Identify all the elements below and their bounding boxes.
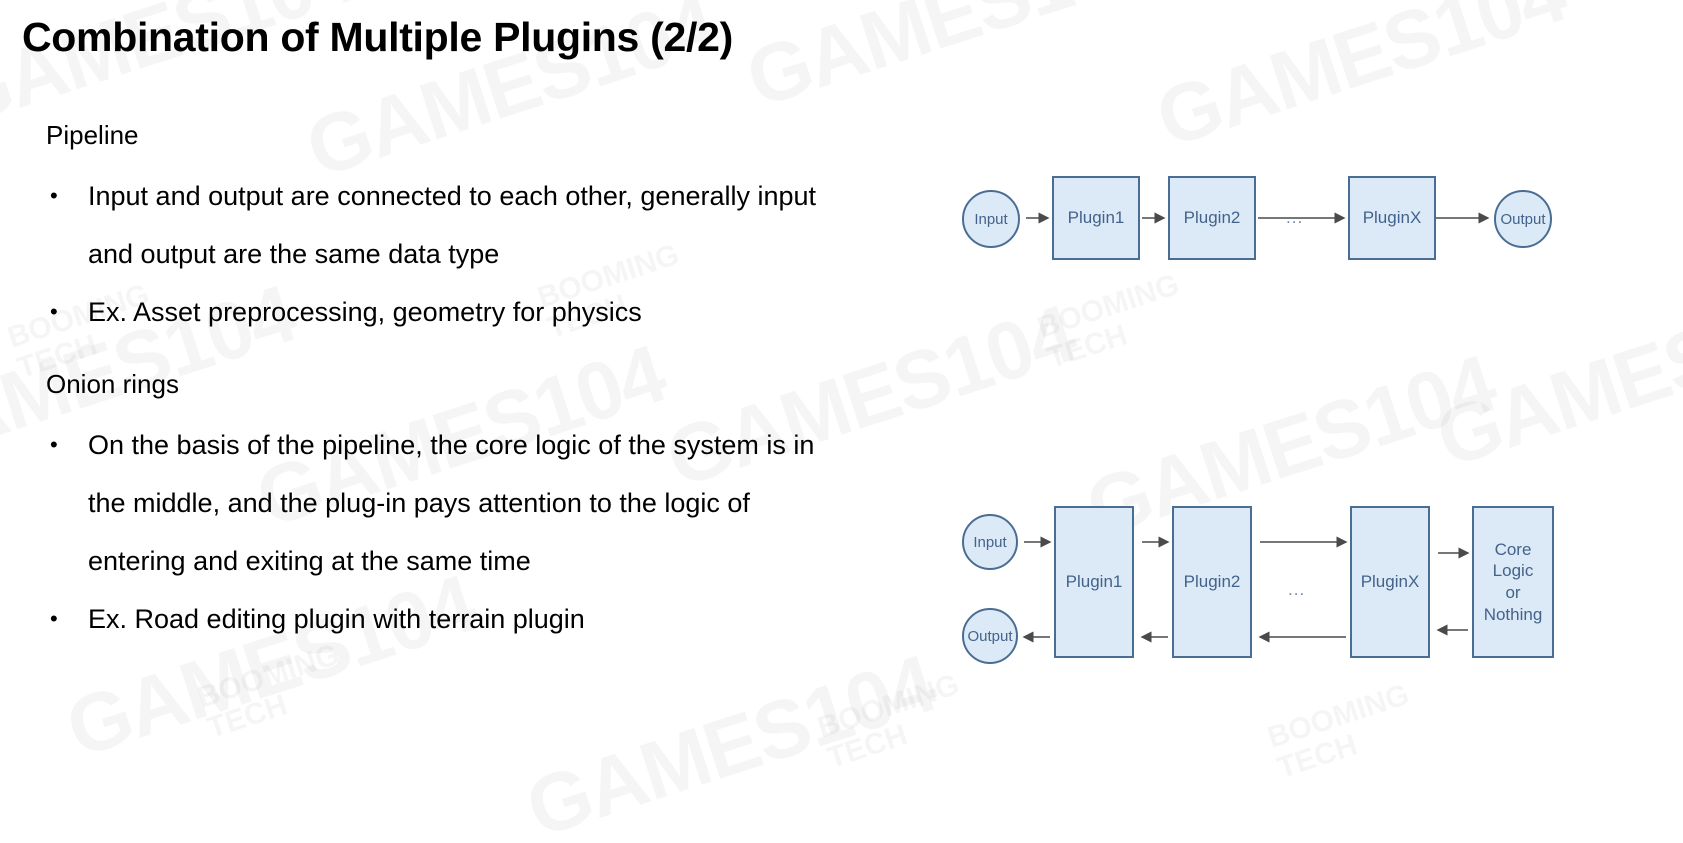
- pipeline-ellipsis: ...: [1286, 208, 1303, 228]
- onion-core-line-4: Nothing: [1484, 604, 1543, 626]
- bullet-list-pipeline: Input and output are connected to each o…: [46, 167, 846, 341]
- onion-stage-plugin2[interactable]: Plugin2: [1172, 506, 1252, 658]
- section-heading-onion-rings: Onion rings: [46, 367, 846, 402]
- pipeline-output-label: Output: [1500, 211, 1545, 228]
- onion-stage-pluginx[interactable]: PluginX: [1350, 506, 1430, 658]
- pipeline-stage-plugin1[interactable]: Plugin1: [1052, 176, 1140, 260]
- pipeline-input-node[interactable]: Input: [962, 190, 1020, 248]
- list-item: Ex. Road editing plugin with terrain plu…: [46, 590, 846, 648]
- list-item: Input and output are connected to each o…: [46, 167, 846, 283]
- onion-output-node[interactable]: Output: [962, 608, 1018, 664]
- onion-stage-label: Plugin1: [1066, 571, 1123, 593]
- onion-input-label: Input: [973, 534, 1006, 551]
- pipeline-stage-pluginx[interactable]: PluginX: [1348, 176, 1436, 260]
- onion-stage-label: PluginX: [1361, 571, 1420, 593]
- onion-core-line-2: Logic: [1493, 560, 1534, 582]
- pipeline-output-node[interactable]: Output: [1494, 190, 1552, 248]
- pipeline-input-label: Input: [974, 211, 1007, 228]
- onion-output-label: Output: [967, 628, 1012, 645]
- section-heading-pipeline: Pipeline: [46, 118, 846, 153]
- pipeline-stage-label: Plugin1: [1068, 207, 1125, 229]
- pipeline-diagram: Input Plugin1 Plugin2 ... PluginX Output: [948, 168, 1683, 278]
- bullet-list-onion-rings: On the basis of the pipeline, the core l…: [46, 416, 846, 648]
- onion-ellipsis: ...: [1288, 580, 1305, 600]
- onion-core-line-3: or: [1505, 582, 1520, 604]
- list-item: On the basis of the pipeline, the core l…: [46, 416, 846, 590]
- content-column: Pipeline Input and output are connected …: [46, 118, 846, 668]
- page-title: Combination of Multiple Plugins (2/2): [22, 14, 733, 61]
- onion-core-logic-node[interactable]: Core Logic or Nothing: [1472, 506, 1554, 658]
- onion-stage-label: Plugin2: [1184, 571, 1241, 593]
- onion-core-line-1: Core: [1495, 539, 1532, 561]
- onion-stage-plugin1[interactable]: Plugin1: [1054, 506, 1134, 658]
- slide-canvas: Combination of Multiple Plugins (2/2) Pi…: [0, 0, 1683, 843]
- pipeline-stage-plugin2[interactable]: Plugin2: [1168, 176, 1256, 260]
- onion-input-node[interactable]: Input: [962, 514, 1018, 570]
- list-item: Ex. Asset preprocessing, geometry for ph…: [46, 283, 846, 341]
- onion-rings-diagram: Input Output Plugin1 Plugin2 ... PluginX…: [948, 498, 1683, 673]
- section-onion-rings: Onion rings On the basis of the pipeline…: [46, 367, 846, 648]
- pipeline-stage-label: Plugin2: [1184, 207, 1241, 229]
- pipeline-stage-label: PluginX: [1363, 207, 1422, 229]
- section-pipeline: Pipeline Input and output are connected …: [46, 118, 846, 341]
